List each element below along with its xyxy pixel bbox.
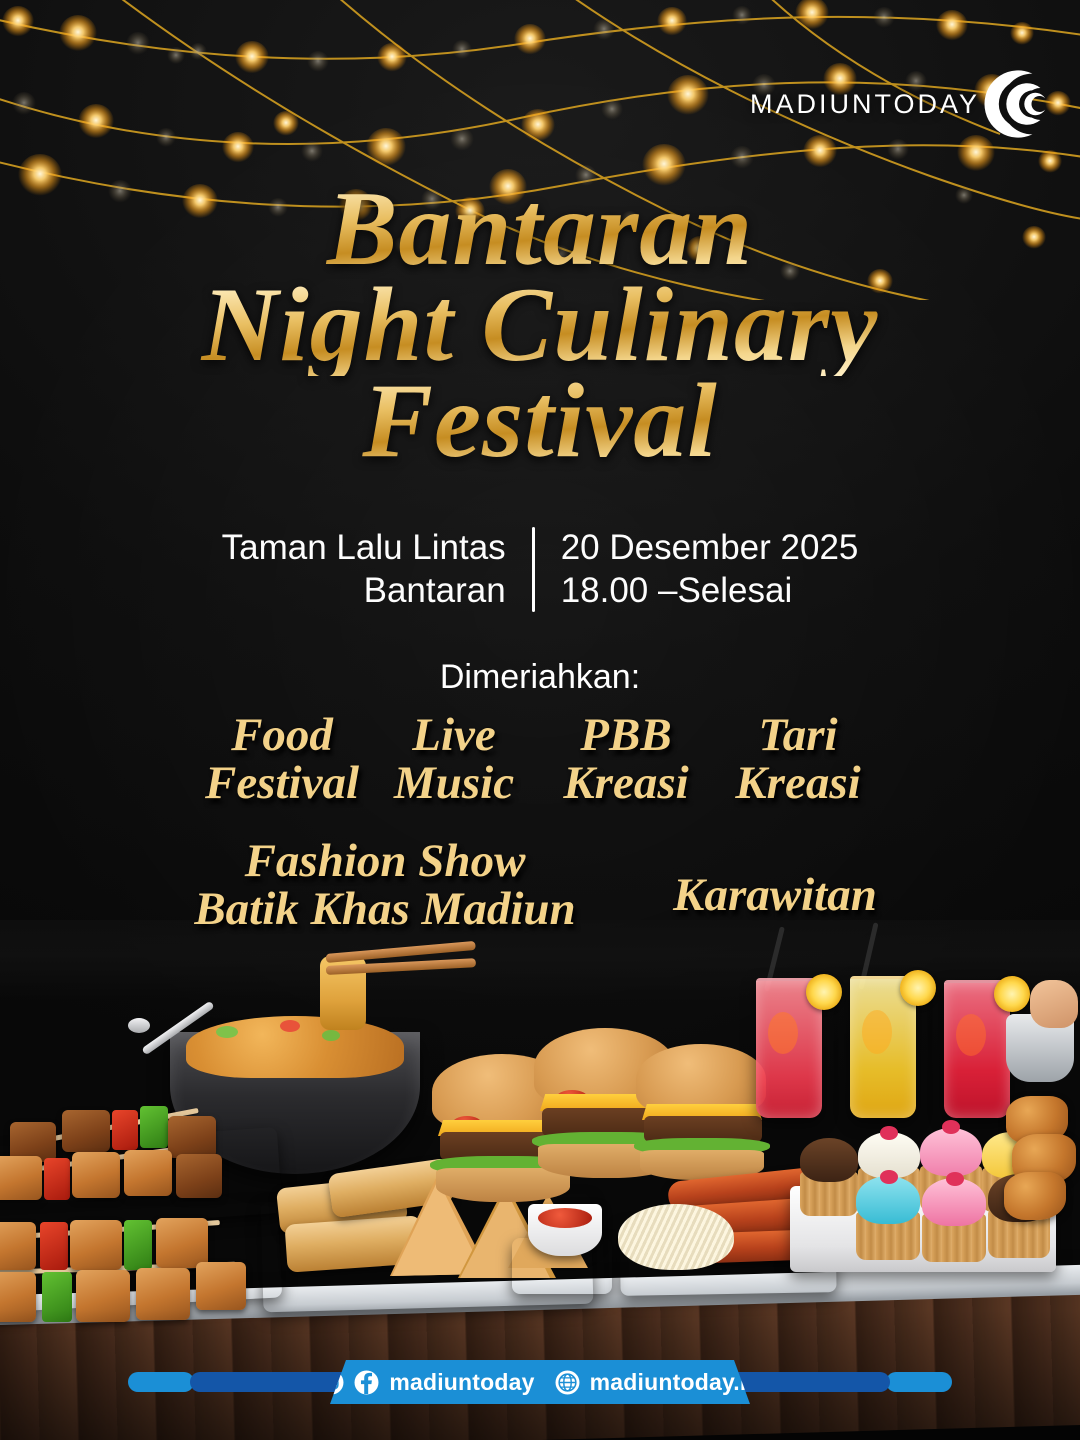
cupcake-6-strawberry bbox=[946, 1172, 964, 1186]
fried-chicken-3 bbox=[1004, 1172, 1066, 1220]
lineup-item-line-2: Music bbox=[368, 760, 540, 808]
logo-text: MADIUNTODAY bbox=[750, 89, 980, 120]
lineup-item-line-1: PBB bbox=[540, 712, 712, 760]
globe-icon[interactable] bbox=[555, 1370, 580, 1395]
lineup-item-line-2: Kreasi bbox=[712, 760, 884, 808]
datetime-block: 20 Desember 2025 18.00 –Selesai bbox=[535, 527, 859, 612]
venue-line-1: Taman Lalu Lintas bbox=[222, 527, 506, 570]
lineup-label: Dimeriahkan: bbox=[0, 658, 1080, 697]
satay-meat-9 bbox=[70, 1220, 122, 1270]
satay-meat-10 bbox=[156, 1218, 208, 1268]
poster-canvas: MADIUNTODAY Bantaran Night Culinary Fest… bbox=[0, 0, 1080, 1440]
crescent-swoosh-icon bbox=[970, 64, 1050, 144]
lineup-item-line-2: Kreasi bbox=[540, 760, 712, 808]
bell-pepper-red-3 bbox=[40, 1222, 68, 1270]
venue-line-2: Bantaran bbox=[222, 570, 506, 613]
website-url[interactable]: madiuntoday.id bbox=[590, 1369, 761, 1396]
footer-contact-panel: madiuntoday madiuntoday.id bbox=[330, 1360, 750, 1404]
cupcake-3-strawberry bbox=[942, 1120, 960, 1134]
lineup-item-live-music: Live Music bbox=[368, 712, 540, 808]
satay-meat-3 bbox=[168, 1116, 216, 1158]
lineup-item-line-1: Tari bbox=[712, 712, 884, 760]
orange-slice-2 bbox=[862, 1010, 892, 1054]
lineup-item-tari-kreasi: Tari Kreasi bbox=[712, 712, 884, 808]
footer-strip-right-outer bbox=[886, 1372, 952, 1392]
footer-bar: madiuntoday madiuntoday.id bbox=[0, 1360, 1080, 1404]
bell-pepper-red-1 bbox=[112, 1110, 138, 1150]
lemon-slice-2 bbox=[900, 970, 936, 1006]
noodle-herb bbox=[322, 1030, 340, 1041]
satay-meat-6 bbox=[124, 1150, 172, 1196]
event-details: Taman Lalu Lintas Bantaran 20 Desember 2… bbox=[0, 527, 1080, 612]
poster-title: Bantaran Night Culinary Festival bbox=[0, 178, 1080, 471]
lineup-item-food-festival: Food Festival bbox=[196, 712, 368, 808]
cupcake-1-frosting-chocolate bbox=[800, 1138, 858, 1182]
chili-sauce bbox=[538, 1208, 592, 1228]
coleslaw bbox=[618, 1204, 734, 1270]
lineup-item-pbb-kreasi: PBB Kreasi bbox=[540, 712, 712, 808]
brand-logo: MADIUNTODAY bbox=[750, 64, 1050, 144]
lineup-item-karawitan: Karawitan bbox=[620, 838, 930, 920]
lemon-slice-3 bbox=[994, 976, 1030, 1012]
footer-strip-left-outer bbox=[128, 1372, 194, 1392]
burger-3-top-bun bbox=[636, 1044, 766, 1114]
cupcake-3-frosting-pink bbox=[920, 1128, 982, 1176]
satay-meat-7 bbox=[176, 1154, 222, 1198]
lineup-row-1: Food Festival Live Music PBB Kreasi Tari… bbox=[0, 712, 1080, 808]
title-line-3: Festival bbox=[0, 370, 1080, 472]
lineup-item-line-2: Festival bbox=[196, 760, 368, 808]
lineup-item-line-1: Fashion Show bbox=[150, 838, 620, 886]
hand bbox=[1030, 980, 1078, 1028]
lineup-row-2: Fashion Show Batik Khas Madiun Karawitan bbox=[0, 838, 1080, 934]
orange-slice-3 bbox=[956, 1014, 986, 1056]
noodle-garnish bbox=[216, 1026, 238, 1038]
satay-meat-5 bbox=[72, 1152, 120, 1198]
cupcake-5-strawberry bbox=[880, 1170, 898, 1184]
lemon-slice-1 bbox=[806, 974, 842, 1010]
venue-block: Taman Lalu Lintas Bantaran bbox=[222, 527, 532, 612]
title-line-2: Night Culinary bbox=[0, 274, 1080, 376]
burger-1-bottom-bun bbox=[436, 1168, 570, 1202]
serving-spoon-head bbox=[128, 1018, 150, 1033]
bell-pepper-green-2 bbox=[124, 1220, 152, 1270]
bell-pepper-green-1 bbox=[140, 1106, 168, 1148]
event-time: 18.00 –Selesai bbox=[561, 570, 859, 613]
event-date: 20 Desember 2025 bbox=[561, 527, 859, 570]
satay-meat-2 bbox=[62, 1110, 110, 1152]
satay-meat-8 bbox=[0, 1222, 36, 1270]
lineup-item-line-1: Live bbox=[368, 712, 540, 760]
noodle-tomato bbox=[280, 1020, 300, 1032]
lineup-item-line-2: Batik Khas Madiun bbox=[150, 886, 620, 934]
facebook-icon[interactable] bbox=[354, 1370, 379, 1395]
orange-slice-1 bbox=[768, 1012, 798, 1054]
satay-meat-4 bbox=[0, 1156, 42, 1200]
cupcake-2-strawberry bbox=[880, 1126, 898, 1140]
lineup-item-line-1: Food bbox=[196, 712, 368, 760]
title-line-1: Bantaran bbox=[0, 178, 1080, 280]
bell-pepper-red-2 bbox=[44, 1158, 70, 1200]
lineup-item-fashion-show: Fashion Show Batik Khas Madiun bbox=[150, 838, 620, 934]
satay-meat-14 bbox=[196, 1262, 246, 1310]
social-handle[interactable]: madiuntoday bbox=[389, 1369, 534, 1396]
